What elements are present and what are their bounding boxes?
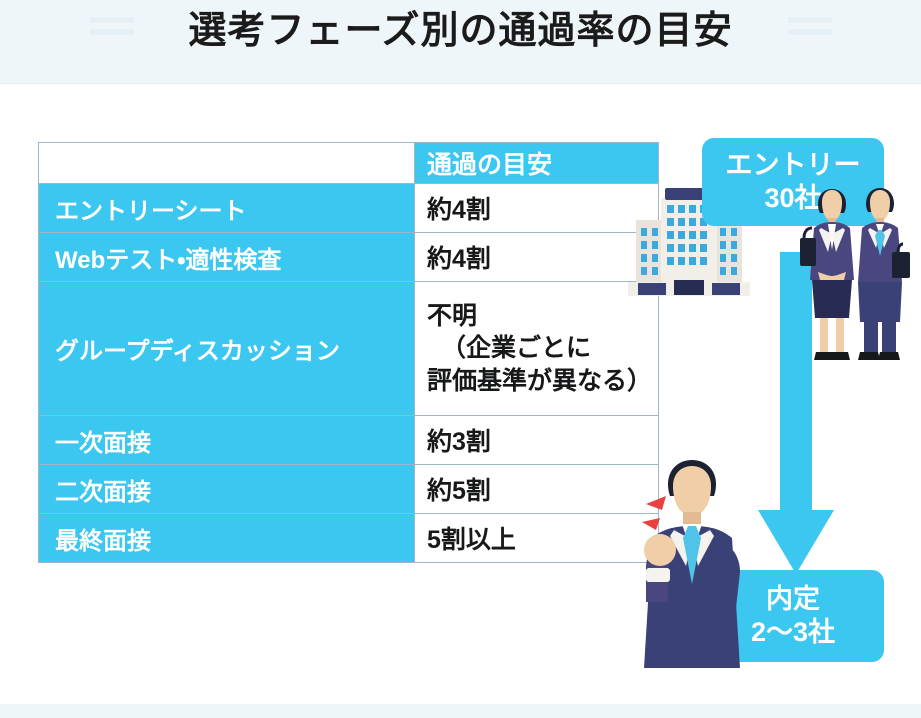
main-canvas: 通過の目安 エントリーシート 約4割 Webテスト・適性検査 約4割 グループデ… [0,84,921,704]
offer-box-line-1: 内定 [766,583,820,616]
table-header-cell-rate: 通過の目安 [415,143,658,183]
table-row: 二次面接 約5割 [39,464,658,513]
table-row: 最終面接 5割以上 [39,513,658,562]
table-cell-phase: Webテスト・適性検査 [39,233,415,281]
decorative-lines-right-icon [788,17,832,39]
offer-box-line-2: 2〜3社 [751,616,835,649]
pass-rate-table: 通過の目安 エントリーシート 約4割 Webテスト・適性検査 約4割 グループデ… [38,142,659,563]
table-cell-phase: 一次面接 [39,416,415,464]
business-people-icon [792,176,920,366]
table-row: Webテスト・適性検査 約4割 [39,232,658,281]
rate-line-2: （企業ごとに [427,332,591,365]
table-row: グループディスカッション 不明 （企業ごとに 評価基準が異なる） [39,281,658,415]
table-cell-phase: 最終面接 [39,514,415,562]
page-title: 選考フェーズ別の通過率の目安 [0,0,921,62]
table-cell-phase: 二次面接 [39,465,415,513]
table-row: 一次面接 約3割 [39,415,658,464]
header-band: 選考フェーズ別の通過率の目安 [0,0,921,84]
deco-bar [788,29,832,35]
table-cell-rate: 約4割 [415,233,658,281]
deco-bar [788,17,832,23]
table-cell-phase: グループディスカッション [39,282,415,415]
table-header-cell-blank [39,143,415,183]
rate-line-3: 評価基準が異なる） [427,365,652,398]
man-raised-fist-icon [618,456,758,668]
footer-band [0,704,921,718]
table-cell-rate: 約4割 [415,184,658,232]
table-header-row: 通過の目安 [39,143,658,183]
table-cell-phase: エントリーシート [39,184,415,232]
rate-line-1: 不明 [427,300,477,333]
table-row: エントリーシート 約4割 [39,183,658,232]
table-cell-rate: 不明 （企業ごとに 評価基準が異なる） [415,282,658,415]
